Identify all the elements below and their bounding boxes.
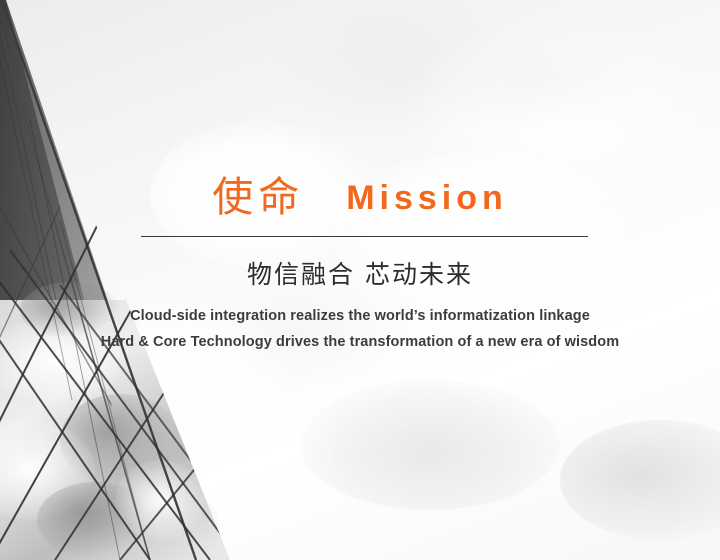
title-divider: [141, 236, 588, 237]
content-block: 使命 Mission 物信融合 芯动未来 Cloud-side integrat…: [0, 0, 720, 560]
description-line-2: Hard & Core Technology drives the transf…: [0, 329, 720, 355]
description: Cloud-side integration realizes the worl…: [0, 303, 720, 355]
mission-banner: 使命 Mission 物信融合 芯动未来 Cloud-side integrat…: [0, 0, 720, 560]
page-title-english: Mission: [346, 179, 508, 215]
description-line-1: Cloud-side integration realizes the worl…: [0, 303, 720, 329]
tagline: 物信融合 芯动未来: [0, 258, 720, 292]
page-title: 使命 Mission: [0, 168, 720, 226]
page-title-chinese: 使命: [212, 177, 304, 218]
